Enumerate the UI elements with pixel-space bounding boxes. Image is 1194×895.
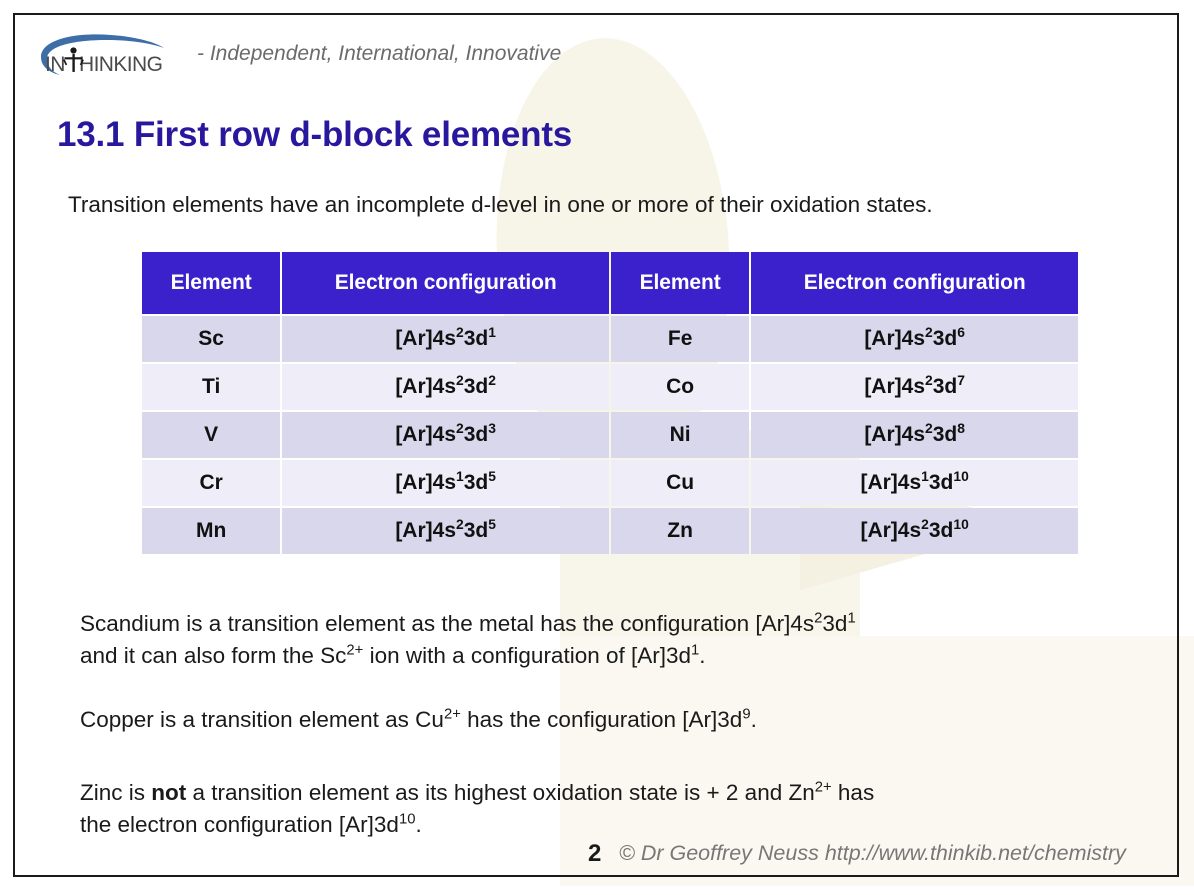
cell-element-left: Sc — [142, 316, 280, 362]
cell-element-left: Ti — [142, 364, 280, 410]
cell-element-left: V — [142, 412, 280, 458]
table-row: Sc [Ar]4s23d1 Fe [Ar]4s23d6 — [142, 316, 1078, 362]
col-header-config-right: Electron configuration — [751, 252, 1078, 314]
brand-tagline: - Independent, International, Innovative — [197, 42, 561, 68]
col-header-element-left-label: Element — [142, 271, 280, 295]
table-header: Element Electron configuration Element E… — [142, 252, 1078, 314]
svg-text:HINKING: HINKING — [79, 53, 162, 76]
table-row: Cr [Ar]4s13d5 Cu [Ar]4s13d10 — [142, 460, 1078, 506]
cell-element-right: Cu — [611, 460, 749, 506]
col-header-config-left: Electron configuration — [282, 252, 609, 314]
col-header-config-left-label: Electron configuration — [282, 271, 609, 295]
cell-element-left: Mn — [142, 508, 280, 554]
cell-config-left: [Ar]4s23d5 — [282, 508, 609, 554]
svg-text:IN: IN — [45, 53, 65, 76]
cell-config-left: [Ar]4s13d5 — [282, 460, 609, 506]
paragraph-scandium: Scandium is a transition element as the … — [80, 608, 856, 672]
cell-config-left: [Ar]4s23d1 — [282, 316, 609, 362]
slide-title: 13.1 First row d-block elements — [57, 115, 572, 155]
paragraph-zinc: Zinc is not a transition element as its … — [80, 777, 874, 841]
cell-element-left: Cr — [142, 460, 280, 506]
cell-config-right: [Ar]4s23d6 — [751, 316, 1078, 362]
cell-config-right-highlighted: [Ar]4s23d10 — [751, 508, 1078, 554]
cell-config-left: [Ar]4s23d2 — [282, 364, 609, 410]
col-header-element-right-label: Element — [611, 271, 749, 295]
col-header-config-right-label: Electron configuration — [751, 271, 1078, 295]
cell-element-right-highlighted: Zn — [611, 508, 749, 554]
table-header-row: Element Electron configuration Element E… — [142, 252, 1078, 314]
inthinking-logo[interactable]: IN HINKING — [33, 31, 181, 79]
electron-configuration-table: Element Electron configuration Element E… — [140, 250, 1080, 556]
intro-sentence: Transition elements have an incomplete d… — [68, 192, 933, 218]
col-header-element-right: Element — [611, 252, 749, 314]
paragraph-copper: Copper is a transition element as Cu2+ h… — [80, 704, 757, 736]
copyright-notice: © Dr Geoffrey Neuss http://www.thinkib.n… — [619, 841, 1126, 866]
col-header-element-left: Element — [142, 252, 280, 314]
page-number: 2 — [588, 840, 601, 868]
cell-config-right: [Ar]4s13d10 — [751, 460, 1078, 506]
cell-config-right: [Ar]4s23d8 — [751, 412, 1078, 458]
cell-element-right: Fe — [611, 316, 749, 362]
cell-element-right: Co — [611, 364, 749, 410]
table-row: Ti [Ar]4s23d2 Co [Ar]4s23d7 — [142, 364, 1078, 410]
cell-config-right: [Ar]4s23d7 — [751, 364, 1078, 410]
slide-canvas: IN HINKING - Independent, International,… — [0, 0, 1194, 895]
table-row: V [Ar]4s23d3 Ni [Ar]4s23d8 — [142, 412, 1078, 458]
brand-header: IN HINKING - Independent, International,… — [33, 30, 561, 80]
table-body: Sc [Ar]4s23d1 Fe [Ar]4s23d6 Ti [Ar]4s23d… — [142, 316, 1078, 554]
cell-element-right: Ni — [611, 412, 749, 458]
cell-config-left: [Ar]4s23d3 — [282, 412, 609, 458]
table-row: Mn [Ar]4s23d5 Zn [Ar]4s23d10 — [142, 508, 1078, 554]
